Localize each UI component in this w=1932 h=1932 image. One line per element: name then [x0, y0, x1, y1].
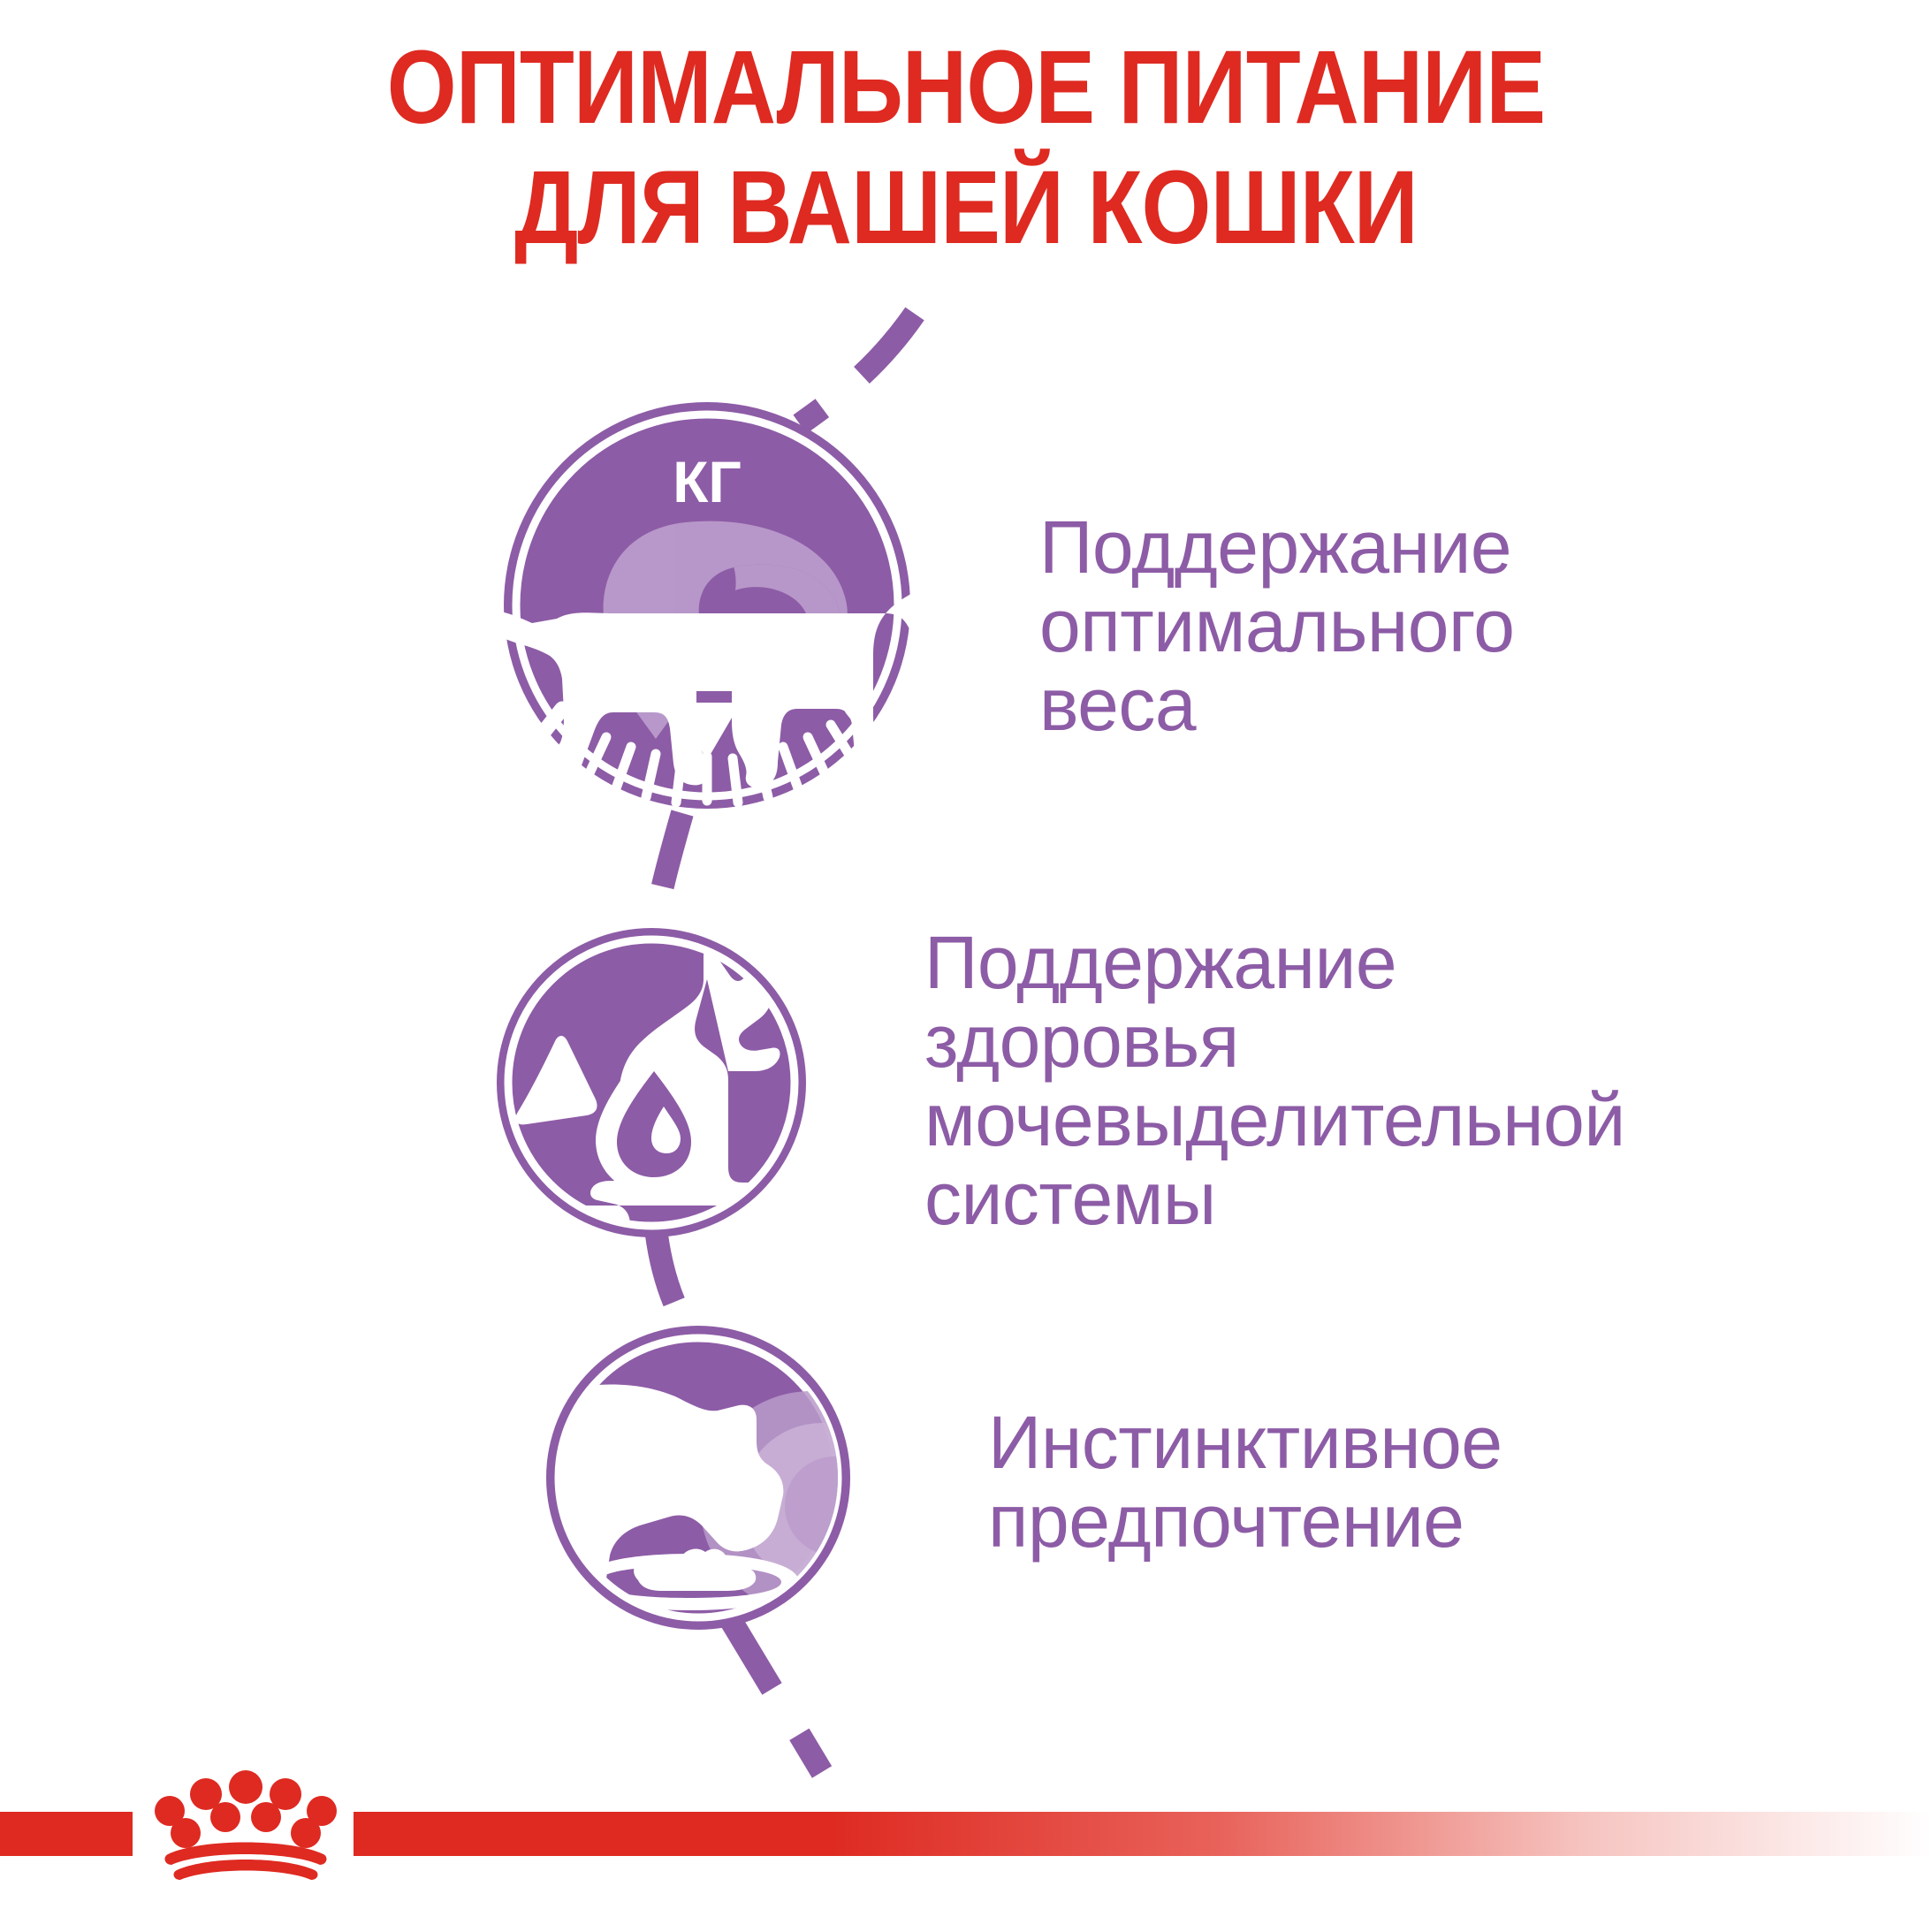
dashed-connector-bottom [730, 1619, 822, 1772]
footer-bar-right [354, 1812, 1932, 1856]
weight-loss-arrow [579, 521, 848, 739]
title-line-1: ОПТИМАЛЬНОЕ ПИТАНИЕ [135, 35, 1797, 140]
footer-bar-left [0, 1812, 133, 1856]
page-title: ОПТИМАЛЬНОЕ ПИТАНИЕ ДЛЯ ВАШЕЙ КОШКИ [0, 35, 1932, 260]
feature-label-weight: Поддержание оптимального веса [1039, 508, 1835, 744]
dashed-connector-1-2 [654, 813, 682, 939]
brand-footer [0, 1755, 1932, 1932]
dashed-connector-top [800, 314, 915, 424]
sitting-cat-droplet-silhouette [515, 948, 780, 1229]
scale-pointer [673, 703, 741, 760]
title-line-2: ДЛЯ ВАШЕЙ КОШКИ [135, 156, 1797, 260]
weight-unit-label: КГ [673, 449, 742, 514]
feature-icon-preference [471, 1326, 923, 1630]
scale-ticks [535, 709, 879, 802]
feature-label-urinary: Поддержание здоровья мочевыделительной с… [924, 924, 1905, 1238]
royal-canin-crown-logo [131, 1762, 361, 1886]
walking-cat-silhouette [475, 519, 1031, 788]
dashed-connector-2-3 [656, 1228, 685, 1326]
feature-icon-urinary [497, 928, 806, 1237]
aroma-arcs [700, 1391, 923, 1614]
eating-cat-silhouette [471, 1384, 799, 1610]
feature-icon-weight: КГ [475, 402, 1031, 809]
droplet-inner [617, 1071, 691, 1177]
infographic-page: ОПТИМАЛЬНОЕ ПИТАНИЕ ДЛЯ ВАШЕЙ КОШКИ КГ [0, 0, 1932, 1932]
feature-label-preference: Инстинктивное предпочтение [988, 1403, 1828, 1561]
